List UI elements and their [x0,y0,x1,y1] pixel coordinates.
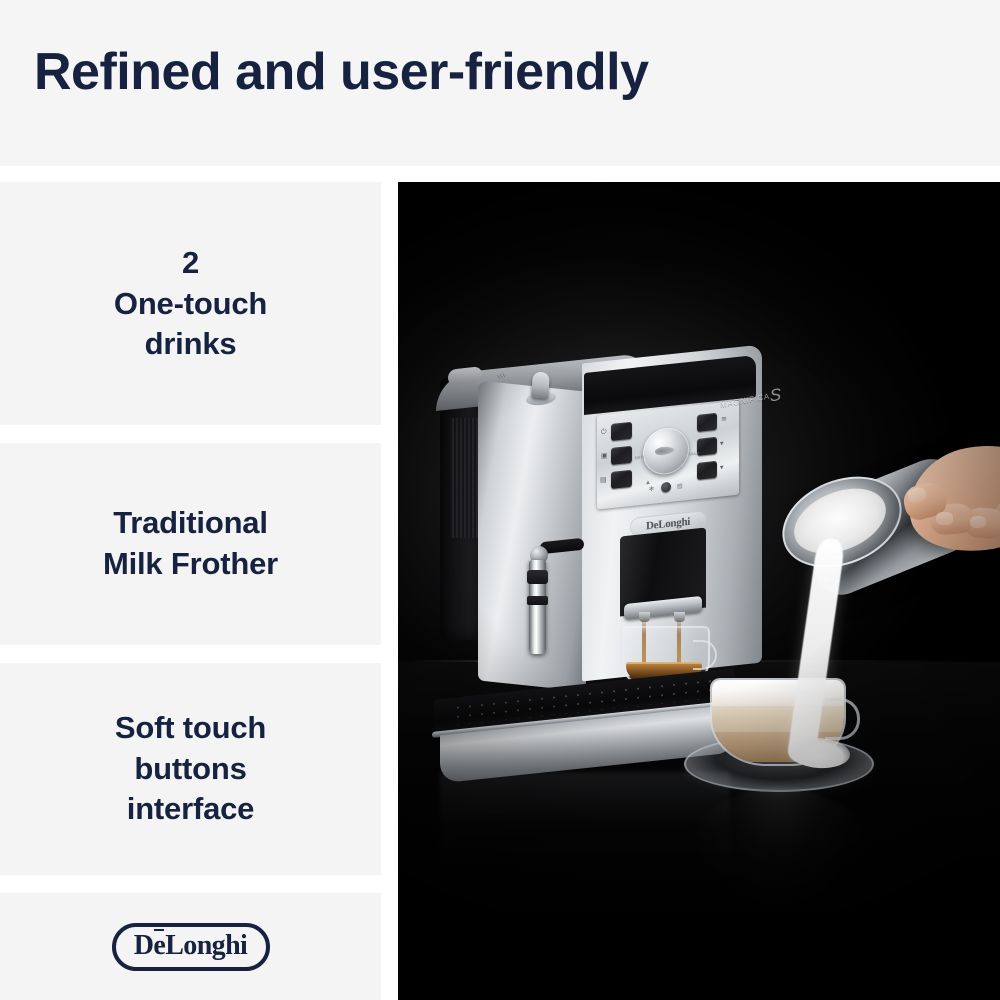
feature-line1-one-touch-drinks: One-touch [114,286,267,321]
delonghi-logo: DeLonghi [112,923,270,971]
power-button[interactable] [611,422,632,441]
double-cup-icon: ▤ [600,476,607,484]
machine-reflection [440,772,730,892]
single-cup-button[interactable] [611,446,632,465]
small-cup-icon: ▣ [601,452,608,460]
promo-page: Refined and user-friendly 2 One-touch dr… [0,0,1000,1000]
page-title: Refined and user-friendly [34,44,649,101]
feature-count-one-touch-drinks: 2 [114,242,267,284]
delonghi-logo-text: DeLonghi [134,932,247,960]
cappuccino-cup-handle [825,698,860,740]
extra-long-coffee-button[interactable] [697,461,717,480]
long-coffee-button[interactable] [697,437,717,456]
hand [878,428,1000,578]
feature-line2-one-touch-drinks: drinks [145,326,237,361]
brand-logo-card: DeLonghi [0,893,381,1000]
milk-pitcher-and-hand [770,450,990,650]
steam-button[interactable] [697,413,717,432]
fingernail-ring [970,516,986,528]
feature-text-soft-touch-buttons: Soft touch buttons interface [95,708,286,831]
machine-model-text: MAGNIFICA [720,392,770,410]
double-cup-button[interactable] [611,470,632,489]
feature-card-one-touch-drinks: 2 One-touch drinks [0,182,381,425]
knob-label-min: MIN [635,455,644,461]
page-header: Refined and user-friendly [0,0,1000,166]
feature-card-milk-frother: Traditional Milk Frother [0,443,381,645]
logo-letter-e-macron: e [153,932,165,960]
machine-control-panel[interactable]: ⏻ ▣ ▤ ≋ ▾ ▾ MIN MAX ▲ ✻ ▤ [597,401,739,510]
machine-model-suffix: S [769,385,782,406]
knob-label-max: MAX [689,451,700,457]
volume-icon: ▾ [720,464,724,471]
feature-text-one-touch-drinks: 2 One-touch drinks [94,242,287,366]
power-icon: ⏻ [601,428,607,436]
descale-icon: ▤ [677,482,683,489]
feature-line2-soft-touch-buttons: buttons [134,751,246,786]
steam-icon: ≋ [721,416,727,424]
cup-reflection [690,788,868,908]
feature-line1-soft-touch-buttons: Soft touch [115,710,266,745]
logo-letters-longhi: Longhi [165,930,247,961]
feature-line1-milk-frother: Traditional [113,505,268,540]
rinse-button[interactable] [661,482,671,493]
coffee-strength-knob[interactable] [643,426,689,477]
frother-collar-upper [527,570,548,584]
feature-line3-soft-touch-buttons: interface [127,791,254,826]
logo-letter-d: D [134,930,154,961]
frother-collar-lower [527,596,548,605]
steam-dial-knob[interactable] [531,371,550,398]
espresso-cup-handle [693,640,717,670]
feature-line2-milk-frother: Milk Frother [103,546,278,581]
product-photo-panel: ⏻ ▣ ▤ ≋ ▾ ▾ MIN MAX ▲ ✻ ▤ MAGNIFICAS [398,182,1000,1000]
fingernail-middle [936,512,953,525]
feature-text-milk-frother: Traditional Milk Frother [83,503,298,585]
product-photo: ⏻ ▣ ▤ ≋ ▾ ▾ MIN MAX ▲ ✻ ▤ MAGNIFICAS [398,182,1000,1000]
feature-card-soft-touch-buttons: Soft touch buttons interface [0,663,381,875]
strength-down-icon: ▾ [720,440,724,447]
rinse-icon: ✻ [649,485,655,492]
